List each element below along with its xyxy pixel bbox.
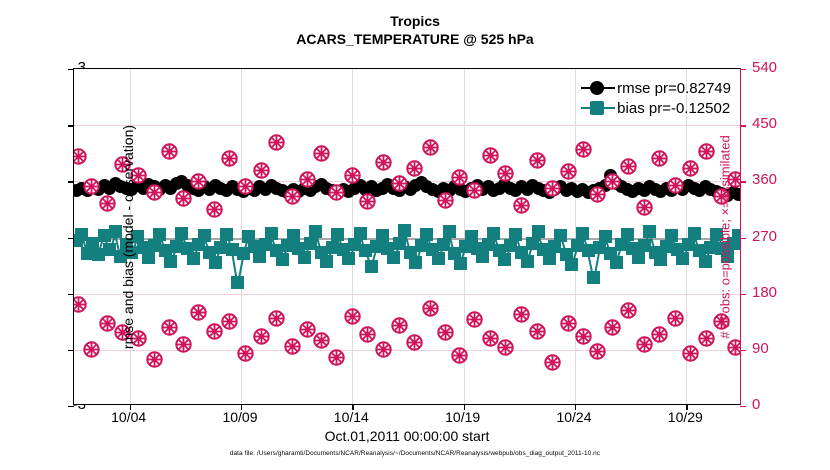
bias-data-point — [365, 260, 378, 273]
obs-count-marker — [422, 300, 439, 317]
bias-data-point — [676, 252, 689, 265]
y-axis-tick-right — [740, 238, 746, 239]
obs-count-marker — [375, 341, 392, 358]
bias-data-point — [387, 251, 400, 264]
obs-count-marker — [74, 296, 87, 313]
x-axis-tick-label: 10/24 — [534, 409, 614, 425]
obs-count-marker — [175, 190, 192, 207]
obs-count-marker — [206, 323, 223, 340]
bias-data-point — [376, 229, 389, 242]
obs-count-marker — [682, 345, 699, 362]
y-axis-tick-label-right: 360 — [752, 171, 796, 188]
x-axis-tick — [464, 404, 465, 410]
rmse-data-point — [732, 188, 740, 201]
obs-count-marker — [604, 173, 621, 190]
bias-data-point — [298, 251, 311, 264]
obs-count-marker — [344, 308, 361, 325]
legend-marker-sample — [581, 81, 615, 95]
obs-count-marker — [437, 192, 454, 209]
bias-data-point — [476, 250, 489, 263]
bias-data-point — [142, 251, 155, 264]
obs-count-marker — [253, 162, 270, 179]
bias-data-point — [643, 225, 656, 238]
obs-count-marker — [83, 178, 100, 195]
y-axis-tick-label-right: 450 — [752, 115, 796, 132]
bias-data-point — [688, 227, 701, 240]
bias-data-point — [632, 251, 645, 264]
obs-count-marker — [604, 319, 621, 336]
y-axis-tick-label-right: 180 — [752, 284, 796, 301]
bias-data-point — [554, 229, 567, 242]
bias-data-point — [610, 256, 623, 269]
obs-count-marker — [268, 310, 285, 327]
bias-data-point — [342, 252, 355, 265]
y-axis-tick-right — [740, 294, 746, 295]
bias-data-point — [164, 255, 177, 268]
obs-count-marker — [636, 336, 653, 353]
obs-count-marker — [190, 304, 207, 321]
bias-data-point — [309, 225, 322, 238]
obs-count-marker — [422, 139, 439, 156]
x-axis-tick-label: 10/19 — [423, 409, 503, 425]
x-axis-tick-label: 10/14 — [311, 409, 391, 425]
obs-count-marker — [237, 178, 254, 195]
y-axis-tick-left — [68, 69, 74, 70]
bias-data-point — [331, 228, 344, 241]
obs-count-marker — [437, 324, 454, 341]
y-axis-tick-left — [68, 350, 74, 351]
x-axis-tick-label: 10/09 — [200, 409, 280, 425]
obs-count-marker — [299, 171, 316, 188]
bias-data-point — [443, 225, 456, 238]
bias-data-point — [209, 256, 222, 269]
obs-count-marker — [253, 328, 270, 345]
legend-marker-sample — [581, 101, 615, 115]
plot-canvas — [74, 69, 740, 404]
obs-count-marker — [529, 323, 546, 340]
legend-label: bias pr=-0.12502 — [617, 100, 730, 117]
bias-data-point — [409, 256, 422, 269]
x-axis-tick — [241, 404, 242, 410]
y-axis-tick-label-right: 90 — [752, 340, 796, 357]
legend-item[interactable]: rmse pr=0.82749 — [581, 78, 731, 98]
obs-count-marker — [544, 354, 561, 371]
bias-data-point — [487, 227, 500, 240]
obs-count-marker — [161, 319, 178, 336]
bias-data-point — [454, 257, 467, 270]
obs-count-marker — [651, 150, 668, 167]
obs-count-marker — [146, 351, 163, 368]
x-axis-tick-label: 10/29 — [645, 409, 725, 425]
obs-count-marker — [175, 336, 192, 353]
plot-root: Tropics ACARS_TEMPERATURE @ 525 hPa -3-2… — [0, 0, 830, 470]
bias-data-point — [621, 228, 634, 241]
y-axis-tick-left — [68, 294, 74, 295]
obs-count-marker — [99, 195, 116, 212]
bias-data-point — [320, 255, 333, 268]
obs-count-marker — [451, 169, 468, 186]
gridline-horizontal — [74, 294, 740, 295]
bias-data-point — [665, 229, 678, 242]
legend: rmse pr=0.82749bias pr=-0.12502 — [579, 77, 734, 119]
obs-count-marker — [620, 158, 637, 175]
bias-data-point — [153, 228, 166, 241]
obs-count-marker — [682, 160, 699, 177]
title-block: Tropics ACARS_TEMPERATURE @ 525 hPa — [0, 12, 830, 48]
obs-count-marker — [466, 182, 483, 199]
x-axis-tick-label: 10/04 — [89, 409, 169, 425]
obs-count-marker — [560, 315, 577, 332]
y-axis-tick-right — [740, 181, 746, 182]
obs-count-marker — [589, 186, 606, 203]
legend-circle-icon — [590, 81, 604, 95]
bias-data-point — [187, 252, 200, 265]
obs-count-marker — [667, 177, 684, 194]
obs-count-marker — [221, 313, 238, 330]
obs-count-marker — [391, 317, 408, 334]
obs-count-marker — [513, 197, 530, 214]
bias-data-point — [175, 227, 188, 240]
bias-data-point — [287, 229, 300, 242]
x-axis-label: Oct.01,2011 00:00:00 start — [73, 428, 741, 444]
obs-count-marker — [575, 141, 592, 158]
bias-data-point — [576, 227, 589, 240]
obs-count-marker — [284, 338, 301, 355]
bias-data-point — [654, 253, 667, 266]
obs-count-marker — [221, 150, 238, 167]
bias-data-point — [253, 250, 266, 263]
gridline-horizontal — [74, 125, 740, 126]
obs-count-marker — [99, 315, 116, 332]
y-axis-tick-right — [740, 350, 746, 351]
bias-data-point — [465, 230, 478, 243]
x-axis-tick — [575, 404, 576, 410]
obs-count-marker — [359, 326, 376, 343]
x-axis-tick — [686, 404, 687, 410]
obs-count-marker — [74, 148, 87, 165]
y-axis-tick-right — [740, 125, 746, 126]
obs-count-marker — [344, 167, 361, 184]
obs-count-marker — [529, 152, 546, 169]
bias-data-point — [699, 255, 712, 268]
obs-count-marker — [406, 160, 423, 177]
bias-data-point — [276, 253, 289, 266]
obs-count-marker — [482, 330, 499, 347]
obs-count-marker — [482, 147, 499, 164]
obs-count-marker — [328, 349, 345, 366]
bias-data-point — [420, 228, 433, 241]
plot-area: rmse pr=0.82749bias pr=-0.12502 rmse and… — [73, 68, 741, 405]
obs-count-marker — [328, 184, 345, 201]
obs-count-marker — [451, 347, 468, 364]
obs-count-marker — [146, 184, 163, 201]
y-axis-label-left: rmse and bias (model - observation) — [120, 87, 136, 387]
obs-count-marker — [651, 326, 668, 343]
legend-item[interactable]: bias pr=-0.12502 — [581, 98, 731, 118]
obs-count-marker — [359, 193, 376, 210]
y-axis-tick-left — [68, 125, 74, 126]
x-axis-tick — [130, 404, 131, 410]
bias-data-point — [599, 230, 612, 243]
obs-count-marker — [636, 199, 653, 216]
obs-count-marker — [513, 306, 530, 323]
bias-data-point — [565, 258, 578, 271]
obs-count-marker — [284, 188, 301, 205]
y-axis-tick-label-right: 0 — [752, 396, 796, 413]
data-file-footer: data file: /Users/gharamti/Documents/NCA… — [0, 450, 830, 457]
obs-count-marker — [497, 339, 514, 356]
bias-data-point — [587, 271, 600, 284]
obs-count-marker — [544, 180, 561, 197]
obs-count-marker — [190, 173, 207, 190]
obs-count-marker — [620, 302, 637, 319]
obs-count-marker — [698, 143, 715, 160]
obs-count-marker — [83, 341, 100, 358]
obs-count-marker — [375, 154, 392, 171]
obs-count-marker — [161, 143, 178, 160]
bias-data-point — [354, 227, 367, 240]
page-title: Tropics — [0, 12, 830, 30]
bias-data-point — [231, 276, 244, 289]
y-axis-tick-right — [740, 69, 746, 70]
obs-count-marker — [497, 165, 514, 182]
y-axis-label-right: # of obs: o=possible; ×=assimilated — [718, 72, 733, 402]
bias-data-point — [543, 252, 556, 265]
bias-data-point — [432, 252, 445, 265]
bias-data-point — [521, 255, 534, 268]
obs-count-marker — [206, 201, 223, 218]
obs-count-marker — [560, 163, 577, 180]
obs-count-marker — [589, 343, 606, 360]
legend-square-icon — [590, 101, 604, 115]
bias-data-point — [732, 229, 740, 242]
bias-data-point — [509, 228, 522, 241]
obs-count-marker — [268, 134, 285, 151]
obs-count-marker — [466, 311, 483, 328]
y-axis-tick-left — [68, 406, 74, 407]
obs-count-marker — [313, 332, 330, 349]
y-axis-tick-right — [740, 406, 746, 407]
bias-data-point — [220, 228, 233, 241]
legend-label: rmse pr=0.82749 — [617, 80, 731, 97]
obs-count-marker — [391, 175, 408, 192]
obs-count-marker — [406, 334, 423, 351]
y-axis-tick-label-right: 270 — [752, 228, 796, 245]
y-axis-tick-left — [68, 238, 74, 239]
obs-count-marker — [313, 145, 330, 162]
bias-data-point — [498, 253, 511, 266]
bias-data-point — [398, 224, 411, 237]
x-axis-tick — [352, 404, 353, 410]
y-axis-tick-left — [68, 181, 74, 182]
obs-count-marker — [237, 345, 254, 362]
bias-data-point — [265, 227, 278, 240]
page-subtitle: ACARS_TEMPERATURE @ 525 hPa — [0, 30, 830, 48]
bias-data-point — [198, 229, 211, 242]
obs-count-marker — [667, 310, 684, 327]
y-axis-tick-label-right: 540 — [752, 59, 796, 76]
bias-data-point — [532, 225, 545, 238]
obs-count-marker — [698, 330, 715, 347]
